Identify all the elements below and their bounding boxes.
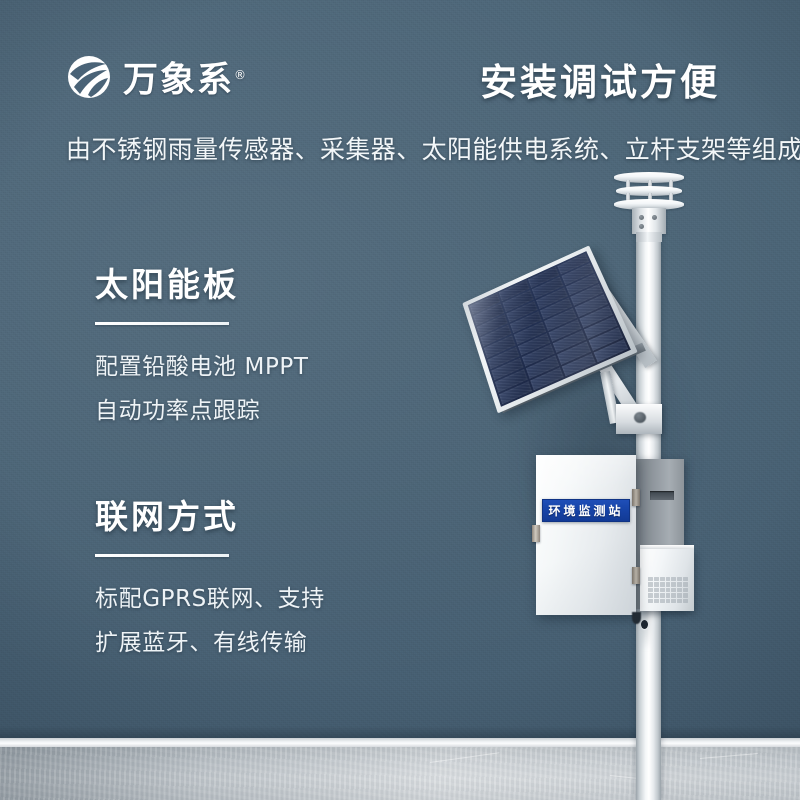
- vent-hole: [666, 582, 671, 586]
- monitoring-station-equipment: 环境监测站: [0, 0, 800, 800]
- product-banner: 万象系® 安装调试方便 由不锈钢雨量传感器、采集器、太阳能供电系统、立杆支架等组…: [0, 0, 800, 800]
- control-cabinet-assembly: 环境监测站: [536, 455, 696, 625]
- vent-hole: [648, 582, 653, 586]
- sensor-port: [639, 215, 644, 220]
- vent-hole: [677, 588, 682, 592]
- vent-hole: [666, 599, 671, 603]
- vent-hole: [671, 599, 676, 603]
- sensor-body: [632, 208, 666, 234]
- cabinet-vent-slot: [650, 491, 674, 500]
- sensor-port: [652, 215, 657, 220]
- sensor-neck: [636, 232, 662, 242]
- vent-hole: [660, 582, 665, 586]
- vent-hole: [666, 577, 671, 581]
- vent-hole: [677, 593, 682, 597]
- vent-hole: [671, 593, 676, 597]
- weather-sensor-head: [614, 172, 684, 234]
- vent-hole: [683, 577, 688, 581]
- vent-hole: [677, 577, 682, 581]
- vent-hole: [683, 599, 688, 603]
- vent-hole: [660, 599, 665, 603]
- vent-hole-grid: [648, 577, 688, 603]
- cabinet-door-sheen: [536, 455, 636, 615]
- cabinet-nameplate-text: 环境监测站: [548, 505, 623, 517]
- cabinet-nameplate: 环境监测站: [542, 499, 630, 522]
- vent-hole: [648, 577, 653, 581]
- cabinet-latch: [532, 525, 540, 542]
- vent-hole: [683, 582, 688, 586]
- cabinet-hinge: [632, 489, 640, 506]
- vent-hole: [648, 588, 653, 592]
- cabinet-front-door: [536, 455, 636, 615]
- vent-hole: [683, 588, 688, 592]
- vent-hole: [666, 588, 671, 592]
- vent-hole: [677, 582, 682, 586]
- sensor-port: [639, 224, 644, 229]
- vent-hole: [654, 588, 659, 592]
- vent-hole: [666, 593, 671, 597]
- vent-hole: [677, 599, 682, 603]
- vent-hole: [654, 599, 659, 603]
- vent-hole: [671, 582, 676, 586]
- vent-hole: [683, 593, 688, 597]
- vent-hole: [660, 577, 665, 581]
- vent-hole: [648, 599, 653, 603]
- cable-entry: [632, 612, 641, 624]
- vent-hole: [654, 593, 659, 597]
- solar-panel-assembly: [474, 252, 660, 438]
- vent-hole: [660, 588, 665, 592]
- vent-hole: [654, 577, 659, 581]
- vent-hole: [660, 593, 665, 597]
- cabinet-hinge: [632, 567, 640, 584]
- clamp-bolt: [634, 412, 646, 423]
- vent-hole: [671, 577, 676, 581]
- vent-hole: [654, 582, 659, 586]
- vent-hole: [671, 588, 676, 592]
- vent-hole: [648, 593, 653, 597]
